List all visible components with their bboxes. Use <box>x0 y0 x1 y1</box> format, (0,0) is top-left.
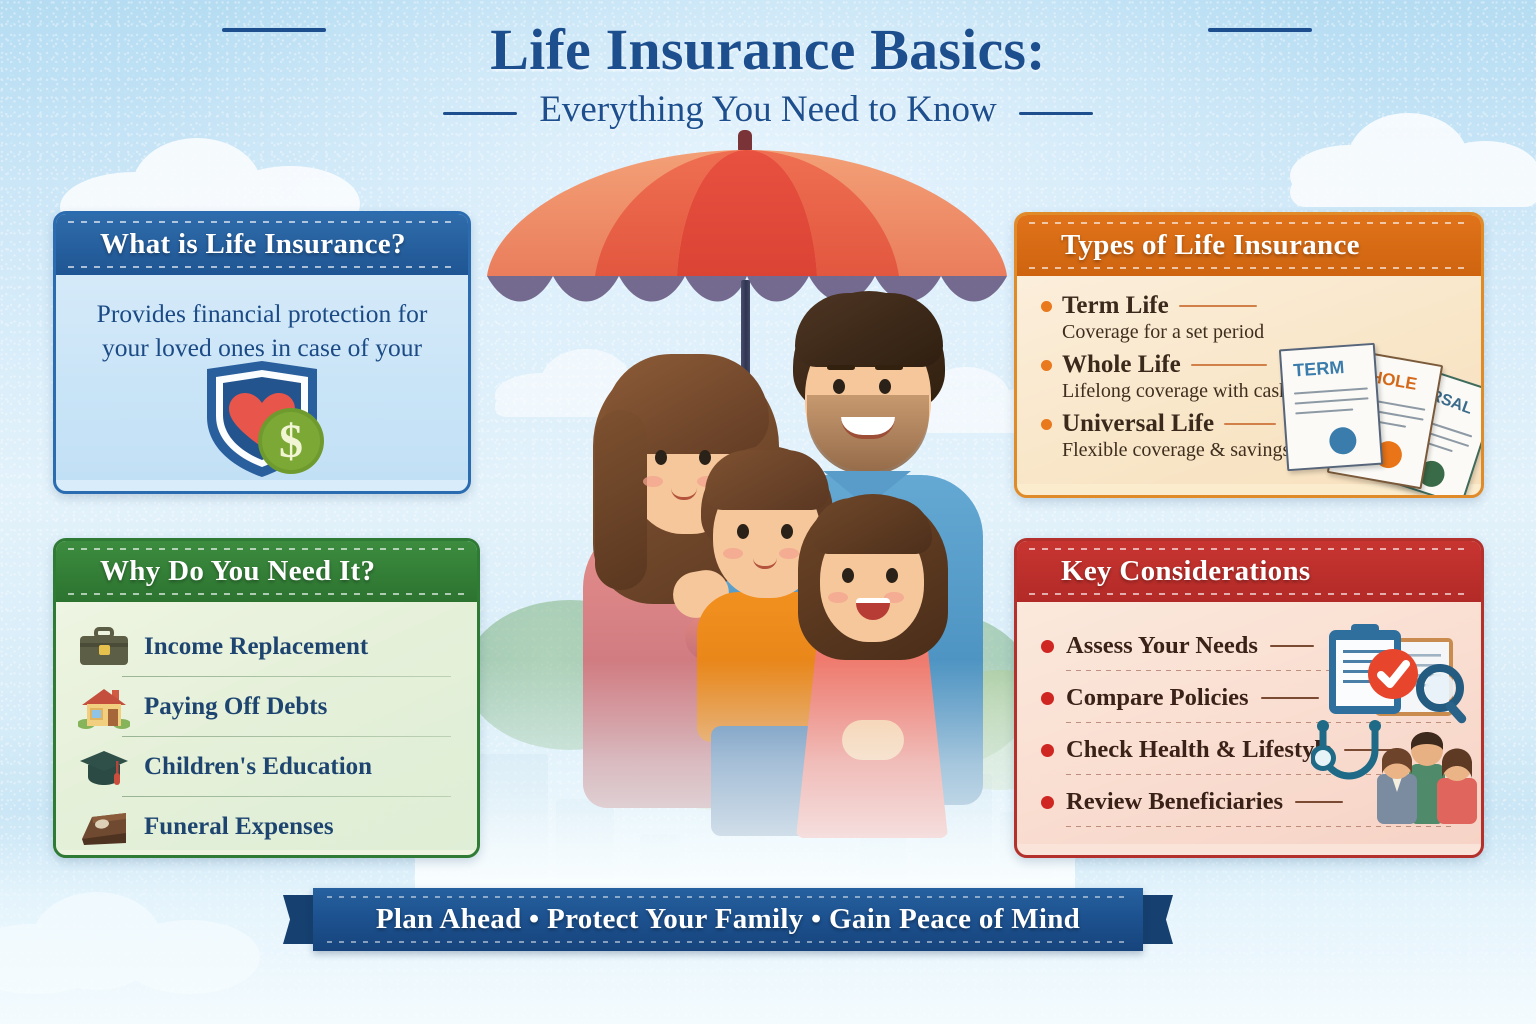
policy-documents-illustration: IVERSAL WHOLE TERM <box>1275 334 1484 486</box>
key-underline <box>1261 697 1319 699</box>
panel-key-heading: Key Considerations <box>1017 541 1481 602</box>
bullet-dot-icon <box>1041 692 1054 705</box>
mother-eye-left <box>655 450 667 465</box>
father-eye-right <box>879 379 891 394</box>
key-label: Compare Policies <box>1066 684 1249 712</box>
why-divider <box>122 736 451 737</box>
type-underline <box>1179 305 1257 307</box>
policy-doc-seal <box>1328 426 1357 455</box>
graduation-cap-icon <box>78 745 130 789</box>
type-title: Term Life <box>1062 292 1169 320</box>
key-label: Assess Your Needs <box>1066 632 1258 660</box>
panel-why-do-you-need-it: Why Do You Need It? Income Replacement <box>53 538 480 858</box>
clipboard-check-icon <box>1323 620 1473 724</box>
subtitle-rule-right <box>1019 112 1093 115</box>
key-divider <box>1066 826 1455 827</box>
banner-tail-left <box>283 895 315 944</box>
why-item-funeral-expenses: Funeral Expenses <box>78 798 455 856</box>
why-divider <box>122 796 451 797</box>
subtitle-rule-left <box>443 112 517 115</box>
bullet-dot-icon <box>1041 419 1052 430</box>
family-group-icon <box>1375 720 1479 824</box>
svg-text:$: $ <box>279 415 303 468</box>
mother-hair-side <box>595 410 647 590</box>
panel-what-heading: What is Life Insurance? <box>56 214 468 275</box>
why-item-income-replacement: Income Replacement <box>78 618 455 676</box>
why-label: Income Replacement <box>144 633 368 661</box>
banner-text: Plan Ahead • Protect Your Family • Gain … <box>376 903 1080 936</box>
panel-key-body: Assess Your Needs Compare Policies Check… <box>1017 602 1481 844</box>
why-label: Children's Education <box>144 753 372 781</box>
coffin-icon <box>78 805 130 849</box>
key-underline <box>1270 645 1314 647</box>
policy-doc-term: TERM <box>1279 343 1383 471</box>
key-label: Check Health & Lifestyle <box>1066 736 1332 764</box>
bottom-fade <box>415 660 1075 890</box>
father-brow-right <box>875 365 903 370</box>
panel-key-considerations: Key Considerations Assess Your Needs Com… <box>1014 538 1484 858</box>
bottom-banner: Plan Ahead • Protect Your Family • Gain … <box>283 888 1173 951</box>
panel-what-body: Provides financial protection for your l… <box>56 275 468 480</box>
family-under-umbrella-illustration <box>455 130 1035 890</box>
bullet-dot-icon <box>1041 360 1052 371</box>
mother-blush-left <box>643 476 663 487</box>
banner-tail-right <box>1141 895 1173 944</box>
panel-what-is-life-insurance: What is Life Insurance? Provides financi… <box>53 211 471 494</box>
title-rule-left <box>222 28 326 32</box>
why-divider <box>122 676 451 677</box>
son-eye-left <box>737 524 749 539</box>
policy-doc-label: TERM <box>1293 357 1345 382</box>
bullet-dot-icon <box>1041 796 1054 809</box>
why-item-childrens-education: Children's Education <box>78 738 455 796</box>
title-rule-right <box>1208 28 1312 32</box>
page-subtitle: Everything You Need to Know <box>539 89 996 130</box>
banner-body: Plan Ahead • Protect Your Family • Gain … <box>313 888 1143 951</box>
bullet-dot-icon <box>1041 301 1052 312</box>
bullet-dot-icon <box>1041 744 1054 757</box>
father-brow-left <box>827 365 855 370</box>
panel-why-body: Income Replacement Paying Off Debts <box>56 602 477 850</box>
panel-types-heading: Types of Life Insurance <box>1017 215 1481 276</box>
title-block: Life Insurance Basics: Everything You Ne… <box>0 20 1536 131</box>
type-underline <box>1224 423 1276 425</box>
why-label: Funeral Expenses <box>144 813 334 841</box>
son-blush-left <box>723 548 743 559</box>
key-label: Review Beneficiaries <box>1066 788 1283 816</box>
briefcase-icon <box>78 625 130 669</box>
why-label: Paying Off Debts <box>144 693 327 721</box>
panel-why-heading: Why Do You Need It? <box>56 541 477 602</box>
daughter-hair-front <box>812 498 932 554</box>
father-eye-left <box>833 379 845 394</box>
type-underline <box>1191 364 1267 366</box>
daughter-eye-right <box>886 568 898 583</box>
bullet-dot-icon <box>1041 640 1054 653</box>
panel-types-of-life-insurance: Types of Life Insurance Term Life Covera… <box>1014 212 1484 498</box>
shield-heart-dollar-icon: $ <box>187 359 337 486</box>
panel-types-body: Term Life Coverage for a set period Whol… <box>1017 276 1481 484</box>
page-title: Life Insurance Basics: <box>490 20 1045 80</box>
father-hair-top <box>795 293 943 367</box>
type-title: Whole Life <box>1062 351 1181 379</box>
type-title: Universal Life <box>1062 410 1214 438</box>
daughter-blush-left <box>828 592 848 603</box>
why-item-paying-off-debts: Paying Off Debts <box>78 678 455 736</box>
why-divider <box>122 856 451 857</box>
daughter-eye-left <box>842 568 854 583</box>
house-icon <box>78 685 130 729</box>
infographic-canvas: Life Insurance Basics: Everything You Ne… <box>0 0 1536 1024</box>
